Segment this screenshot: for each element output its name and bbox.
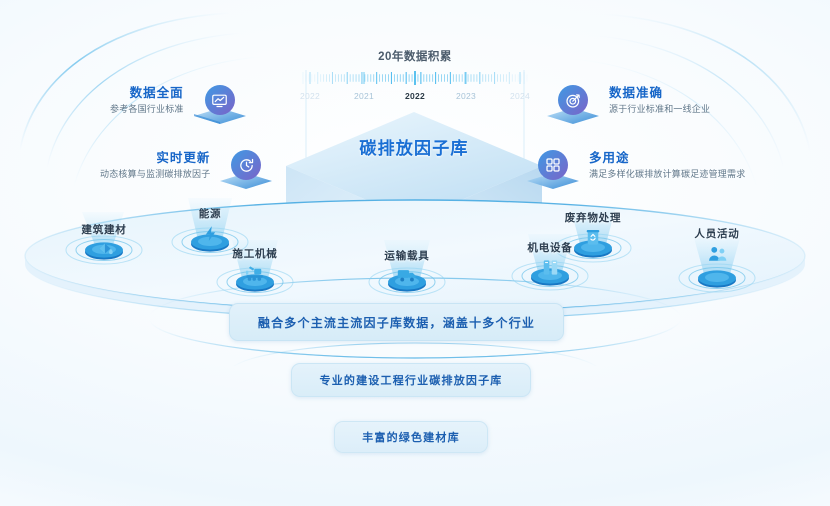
- summary-pill-green-materials[interactable]: 丰富的绿色建材库: [334, 421, 488, 453]
- infographic-canvas: 20年数据积累: [0, 0, 830, 506]
- feature-podium: [192, 78, 248, 124]
- feature-text: 数据全面 参考各国行业标准: [110, 86, 184, 115]
- feature-podium: [545, 78, 601, 124]
- node-label: 运输载具: [384, 248, 429, 263]
- timeline-year: 2022: [300, 89, 320, 103]
- node-label: 建筑建材: [81, 222, 126, 237]
- feature-text: 数据准确 源于行业标准和一线企业: [609, 86, 710, 115]
- node-label: 能源: [199, 206, 222, 221]
- people-icon: [706, 243, 728, 263]
- node-personnel-activity[interactable]: 人员活动: [672, 226, 762, 288]
- feature-item-data-comprehensive[interactable]: 数据全面 参考各国行业标准: [110, 78, 248, 124]
- feature-text: 多用途 满足多样化碳排放计算碳足迹管理需求: [589, 151, 745, 180]
- feature-desc: 动态核算与监测碳排放因子: [100, 169, 210, 181]
- excavator-icon: [244, 263, 266, 283]
- pill-text: 专业的建设工程行业碳排放因子库: [320, 372, 503, 388]
- summary-pill-construction-library[interactable]: 专业的建设工程行业碳排放因子库: [291, 363, 531, 397]
- feature-title: 数据全面: [130, 86, 184, 102]
- feature-podium: [218, 143, 274, 189]
- summary-pill-industries[interactable]: 融合多个主流主流因子库数据，涵盖十多个行业: [229, 303, 564, 341]
- feature-desc: 源于行业标准和一线企业: [609, 104, 710, 116]
- timeline-year: 2024: [510, 89, 530, 103]
- feature-title: 实时更新: [156, 151, 210, 167]
- node-waste-treatment[interactable]: 废弃物处理: [548, 210, 638, 272]
- feature-item-multipurpose[interactable]: 多用途 满足多样化碳排放计算碳足迹管理需求: [525, 143, 745, 189]
- node-construction-machinery[interactable]: 施工机械: [210, 246, 300, 308]
- node-label: 施工机械: [232, 246, 277, 261]
- feature-item-data-accurate[interactable]: 数据准确 源于行业标准和一线企业: [545, 78, 710, 124]
- feature-desc: 满足多样化碳排放计算碳足迹管理需求: [589, 169, 745, 181]
- timeline-year: 2023: [456, 89, 476, 103]
- target-icon: [558, 85, 588, 115]
- feature-item-realtime-update[interactable]: 实时更新 动态核算与监测碳排放因子: [100, 143, 274, 189]
- timeline-ruler: [300, 71, 530, 85]
- feature-title: 多用途: [589, 151, 630, 167]
- cube-title: 碳排放因子库: [280, 134, 548, 159]
- pill-text: 融合多个主流主流因子库数据，涵盖十多个行业: [258, 314, 535, 331]
- feature-title: 数据准确: [609, 86, 663, 102]
- feature-desc: 参考各国行业标准: [110, 104, 184, 116]
- node-label: 废弃物处理: [565, 210, 622, 225]
- recycle-bin-icon: [582, 227, 604, 247]
- node-transport-vehicles[interactable]: 运输载具: [362, 248, 452, 310]
- clock-rotate-icon: [231, 150, 261, 180]
- grid-four-squares-icon: [538, 150, 568, 180]
- truck-icon: [396, 265, 418, 285]
- paint-bucket-icon: [93, 240, 115, 260]
- timeline-year: 2021: [354, 89, 374, 103]
- timeline-year-active: 2022: [405, 89, 425, 103]
- feature-podium: [525, 143, 581, 189]
- pill-text: 丰富的绿色建材库: [362, 429, 460, 445]
- timeline-year-labels: 2022 2021 2022 2023 2024: [300, 89, 530, 103]
- node-label: 人员活动: [694, 226, 739, 241]
- monitor-chart-icon: [205, 85, 235, 115]
- node-building-materials[interactable]: 建筑建材: [59, 222, 149, 284]
- feature-text: 实时更新 动态核算与监测碳排放因子: [100, 151, 210, 180]
- timeline-title: 20年数据积累: [300, 52, 530, 64]
- timeline: 20年数据积累: [300, 52, 530, 112]
- lightning-bolt-icon: [199, 223, 221, 243]
